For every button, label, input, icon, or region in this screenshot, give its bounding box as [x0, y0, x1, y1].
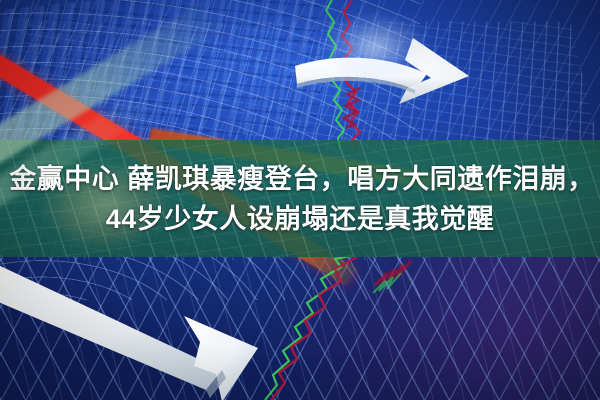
- thumbnail-image: 金赢中心 薛凯琪暴瘦登台，唱方大同遗作泪崩， 44岁少女人设崩塌还是真我觉醒: [0, 0, 600, 400]
- vignette-overlay: [0, 0, 600, 400]
